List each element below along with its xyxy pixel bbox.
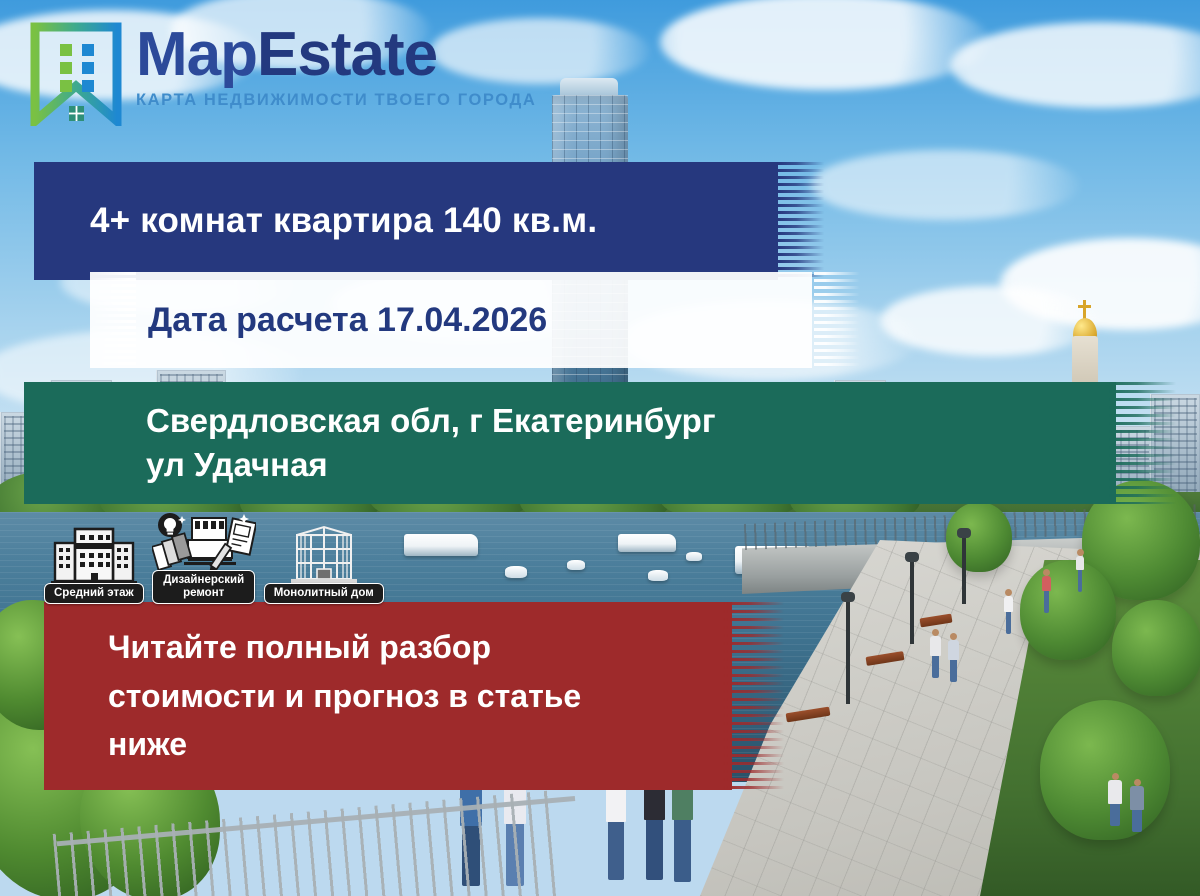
brand-wordmark: MapEstate КАРТА НЕДВИЖИМОСТИ ТВОЕГО ГОРО…	[136, 24, 536, 110]
address-line-2: ул Удачная	[146, 443, 716, 487]
bookmark-building-icon	[30, 22, 122, 126]
rooms-area-banner: 4+ комнат квартира 140 кв.м.	[34, 162, 824, 280]
address-banner: Свердловская обл, г Екатеринбург ул Удач…	[24, 382, 1176, 504]
badge-label-middle-floor: Средний этаж	[44, 583, 144, 604]
pedestrian	[1130, 786, 1144, 810]
river-cruise-boat	[618, 534, 676, 552]
calculation-date-banner: Дата расчета 17.04.2026	[90, 272, 860, 368]
calculation-date-text: Дата расчета 17.04.2026	[148, 301, 547, 340]
call-to-action-banner[interactable]: Читайте полный разбор стоимости и прогно…	[44, 602, 784, 790]
rooms-area-text: 4+ комнат квартира 140 кв.м.	[90, 201, 597, 241]
brush-fray-right	[778, 162, 824, 280]
brand-name-part1: Map	[136, 20, 257, 89]
pedestrian	[948, 640, 959, 660]
cta-line-3: ниже	[108, 720, 581, 769]
badge-label-designer-renovation: Дизайнерский ремонт	[152, 570, 255, 604]
design-renovation-icon	[152, 512, 256, 574]
pedestrian	[1076, 556, 1084, 570]
promenade-tree	[946, 502, 1012, 572]
pedestrian	[1004, 596, 1013, 612]
pedestrian	[930, 636, 941, 656]
badge-label-monolithic-house: Монолитный дом	[264, 583, 384, 604]
apartment-buildings-icon	[51, 525, 137, 587]
badge-designer-renovation[interactable]: Дизайнерский ремонт	[152, 512, 256, 604]
address-text: Свердловская обл, г Екатеринбург ул Удач…	[146, 399, 716, 486]
cloud	[810, 150, 1080, 220]
monolithic-frame-icon	[281, 525, 367, 587]
cta-line-1: Читайте полный разбор	[108, 623, 581, 672]
call-to-action-text: Читайте полный разбор стоимости и прогно…	[108, 623, 581, 769]
small-boat	[648, 570, 668, 581]
pedestrian	[1042, 576, 1051, 591]
property-promo-poster: MapEstate КАРТА НЕДВИЖИМОСТИ ТВОЕГО ГОРО…	[0, 0, 1200, 896]
address-line-1: Свердловская обл, г Екатеринбург	[146, 402, 716, 439]
promenade-tree	[1112, 600, 1200, 696]
brush-fray-right	[814, 272, 860, 368]
brand-logo[interactable]: MapEstate КАРТА НЕДВИЖИМОСТИ ТВОЕГО ГОРО…	[30, 22, 536, 126]
river-cruise-boat	[404, 534, 478, 556]
small-boat	[505, 566, 527, 578]
brush-fray-right	[722, 602, 784, 790]
cta-line-2: стоимости и прогноз в статье	[108, 672, 581, 721]
brand-tagline: КАРТА НЕДВИЖИМОСТИ ТВОЕГО ГОРОДА	[136, 91, 536, 110]
brand-name: MapEstate	[136, 24, 536, 86]
street-lamp	[962, 536, 966, 604]
street-lamp	[846, 600, 850, 704]
brand-name-part2: Estate	[257, 20, 437, 89]
promenade-tree	[1020, 560, 1116, 660]
street-lamp	[910, 560, 914, 644]
small-boat	[686, 552, 702, 561]
property-feature-badges: Средний этаж	[44, 512, 384, 604]
badge-monolithic-house[interactable]: Монолитный дом	[264, 525, 384, 604]
badge-middle-floor[interactable]: Средний этаж	[44, 525, 144, 604]
brush-fray-right	[1106, 382, 1176, 504]
pedestrian	[1108, 780, 1122, 804]
promenade-tree	[1040, 700, 1170, 840]
small-boat	[567, 560, 585, 570]
